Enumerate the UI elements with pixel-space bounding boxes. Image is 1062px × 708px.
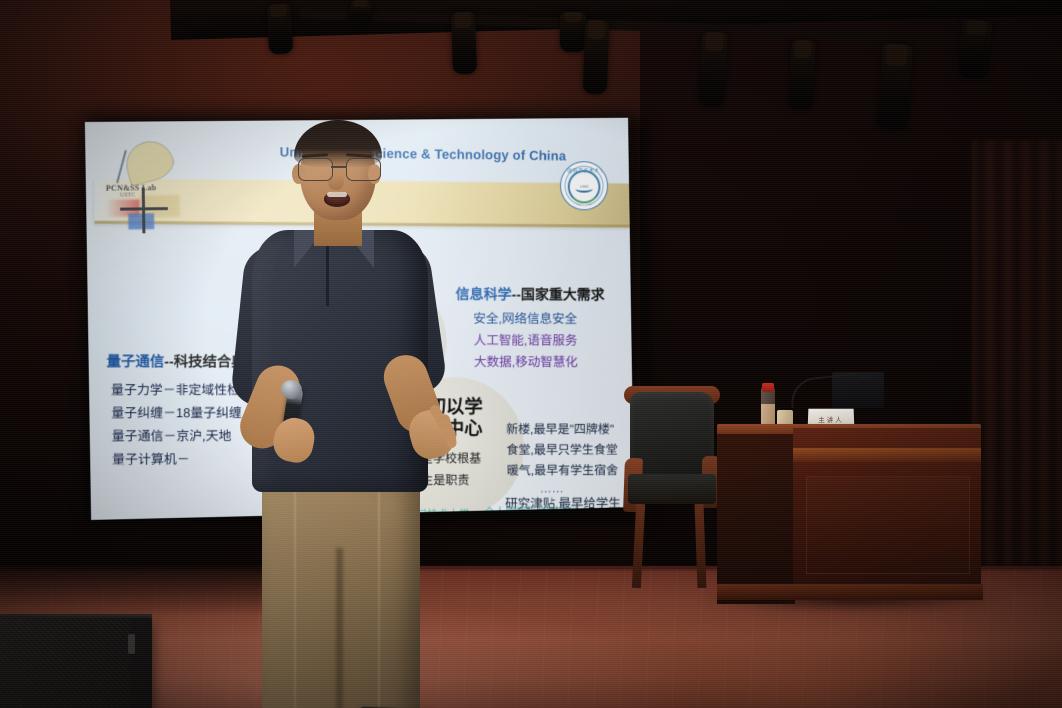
- block-left-line-3: 量子通信－京沪,天地: [112, 426, 232, 446]
- ustc-seal-icon: 中国科学技术大学 1958: [560, 161, 609, 211]
- pa-speaker-grill: [0, 618, 130, 708]
- logo-cross-vertical: [142, 187, 145, 233]
- podium-base-plinth: [717, 584, 983, 600]
- lecture-hall-scene: University of Science & Technology of Ch…: [0, 0, 1062, 708]
- dish-arm-icon: [116, 150, 127, 183]
- presenter-teeth: [327, 192, 347, 197]
- podium-trim-rail: [793, 448, 981, 462]
- logo-cross-horizontal: [120, 207, 168, 210]
- pa-speaker: [0, 618, 152, 708]
- eyeglass-bridge: [331, 166, 346, 168]
- trouser-crease: [378, 492, 380, 708]
- block-right-line-2: 食堂,最早只学生食堂: [506, 441, 618, 460]
- pa-speaker-handle: [128, 634, 135, 654]
- spotlight-icon: [560, 12, 586, 52]
- bottle-label: [761, 404, 775, 426]
- spotlight-icon: [267, 3, 294, 54]
- stage-curtain: [972, 140, 1062, 610]
- trouser-inseam: [336, 548, 343, 708]
- spotlight-icon: [350, 0, 372, 26]
- eyeglass-lens-right: [346, 158, 381, 181]
- podium-side-panel: [717, 434, 795, 604]
- trouser-crease: [294, 488, 296, 708]
- block-info-line-1: 安全,网络信息安全: [473, 309, 577, 329]
- polo-placket: [326, 244, 329, 306]
- spotlight-icon: [698, 31, 728, 106]
- logo-label: PCN&SS Lab: [106, 183, 157, 193]
- podium-inset-panel: [806, 476, 970, 574]
- spotlight-icon: [583, 20, 610, 95]
- presenter: [228, 118, 478, 708]
- chair-seat: [628, 474, 716, 504]
- block-info-line-2: 人工智能,语音服务: [474, 331, 578, 351]
- block-info-title-rest: --国家重大需求: [512, 287, 605, 303]
- seal-year: 1958: [580, 184, 589, 189]
- block-left-title-highlight: 量子通信: [107, 354, 165, 370]
- spotlight-icon: [788, 39, 816, 110]
- presenter-nose: [328, 174, 344, 190]
- hand-finger: [445, 428, 457, 449]
- spotlight-icon: [958, 19, 993, 79]
- nameplate-text: 主讲人: [812, 414, 850, 424]
- logo-sublabel: USTC: [120, 192, 135, 198]
- pcnss-lab-logo: PCN&SS Lab USTC: [103, 139, 184, 226]
- stage-chair: [624, 392, 720, 588]
- bottle-cap: [762, 383, 774, 392]
- chair-leg: [695, 504, 707, 588]
- block-left-line-4: 量子计算机－: [112, 450, 190, 470]
- chair-leg: [632, 504, 645, 588]
- block-left-line-2: 量子纠缠－18量子纠缠: [111, 403, 241, 422]
- satellite-dish-icon: [121, 136, 177, 187]
- block-info-line-3: 大数据,移动智慧化: [474, 352, 578, 372]
- block-right-line-3: 暖气,最早有学生宿舍: [507, 462, 619, 481]
- spotlight-icon: [877, 43, 913, 131]
- block-right-line-1: 新楼,最早是"四牌楼": [506, 421, 614, 439]
- spotlight-icon: [451, 12, 477, 75]
